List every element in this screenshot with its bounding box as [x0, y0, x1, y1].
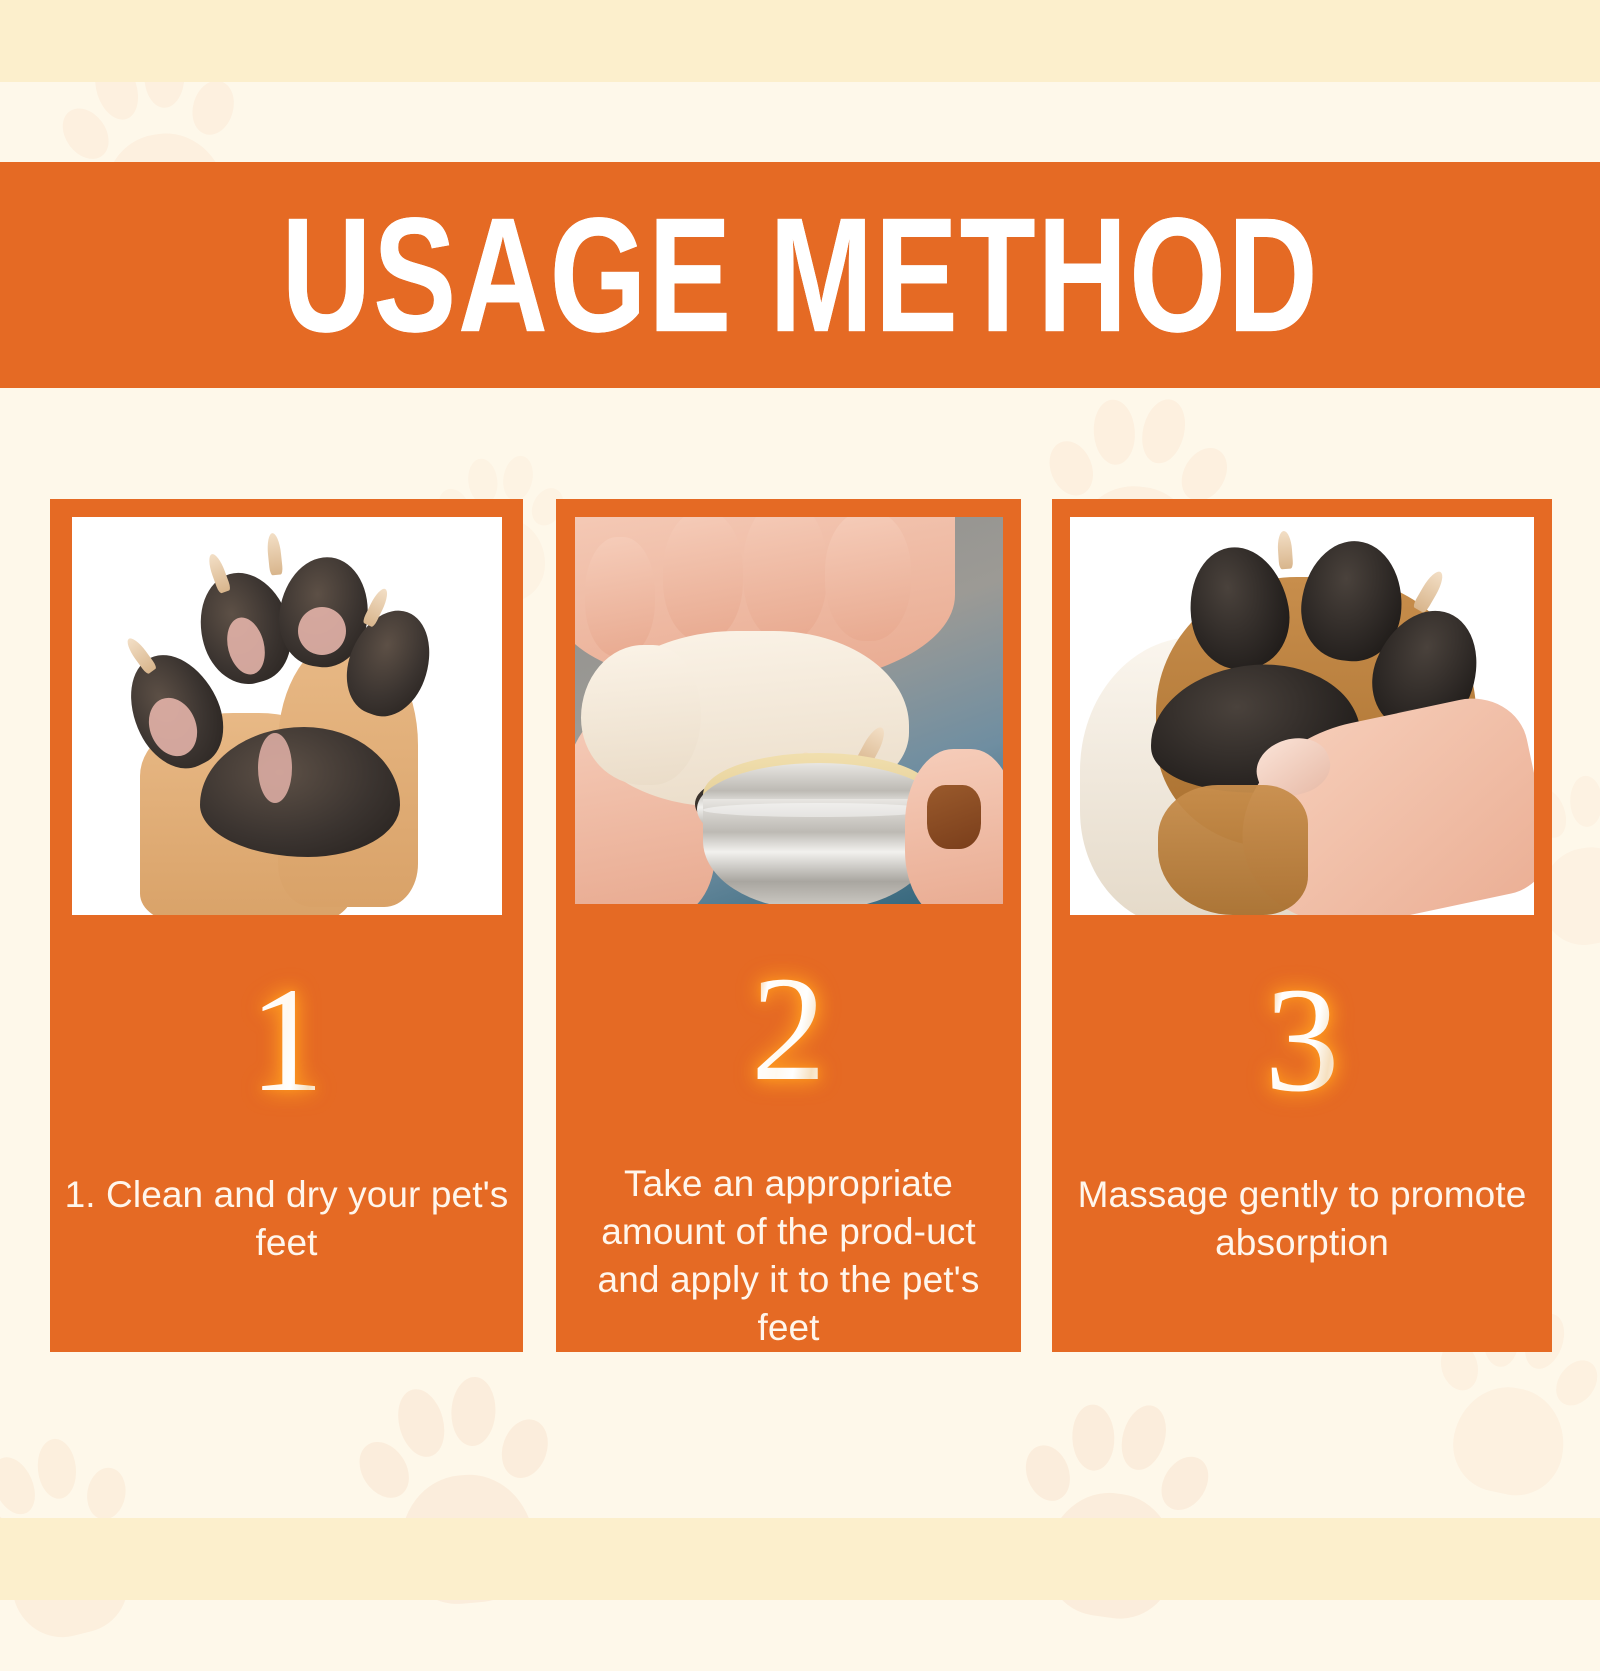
step-1-number: 1	[249, 965, 324, 1115]
step-card-1: 1 1. Clean and dry your pet's feet	[50, 499, 523, 1352]
step-card-3: 3 Massage gently to promote absorption	[1052, 499, 1552, 1352]
step-card-2: 2 Take an appropriate amount of the prod…	[556, 499, 1021, 1352]
step-2-caption: Take an appropriate amount of the prod-u…	[556, 1160, 1021, 1352]
step-1-caption: 1. Clean and dry your pet's feet	[50, 1171, 523, 1267]
step-3-photo	[1070, 517, 1534, 915]
step-2-number: 2	[751, 954, 826, 1104]
step-3-caption: Massage gently to promote absorption	[1052, 1171, 1552, 1267]
step-3-number: 3	[1265, 965, 1340, 1115]
step-1-photo	[72, 517, 502, 915]
step-2-photo	[575, 517, 1003, 904]
steps-container: 1 1. Clean and dry your pet's feet	[0, 0, 1600, 1600]
